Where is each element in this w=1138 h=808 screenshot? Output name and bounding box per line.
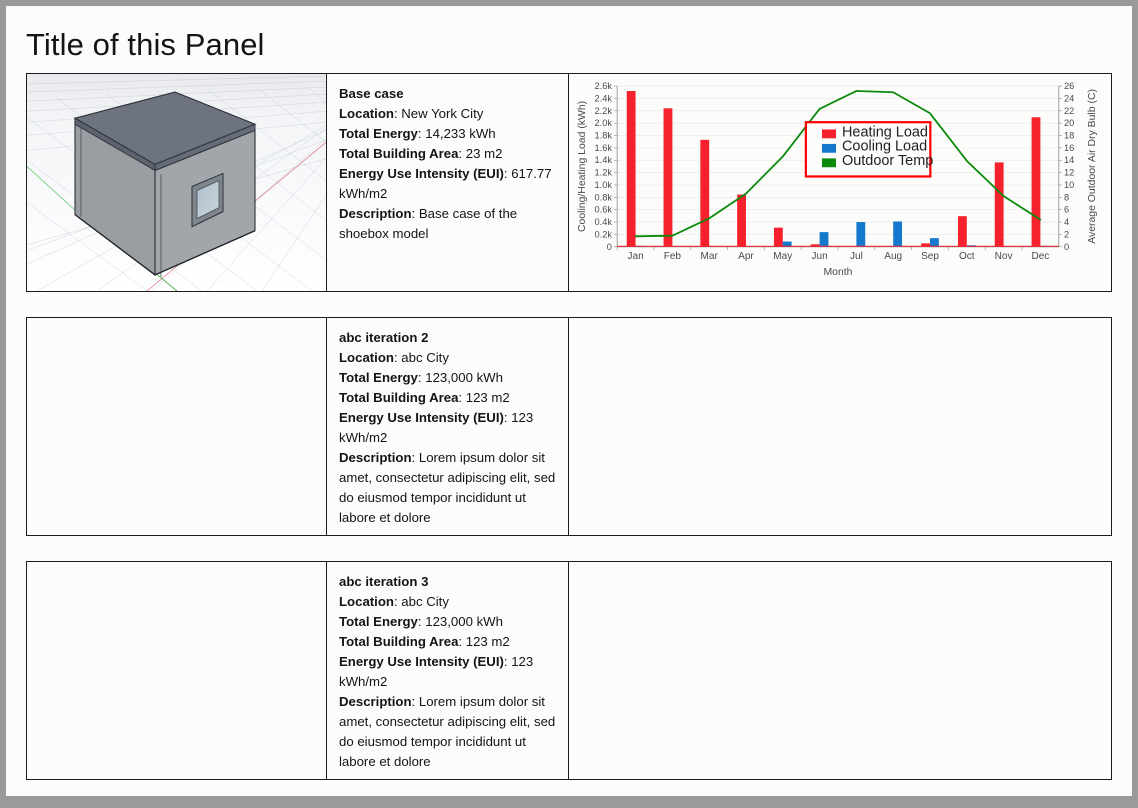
info-label: Location xyxy=(339,106,394,121)
svg-text:Sep: Sep xyxy=(921,251,939,262)
info-field-description: Description: Base case of the shoebox mo… xyxy=(339,204,556,244)
svg-text:8: 8 xyxy=(1064,192,1069,202)
info-field-total-energy: Total Energy: 123,000 kWh xyxy=(339,612,556,632)
svg-text:2.2k: 2.2k xyxy=(595,106,613,116)
svg-text:1.8k: 1.8k xyxy=(595,131,613,141)
svg-text:1.6k: 1.6k xyxy=(595,143,613,153)
info-value: 14,233 kWh xyxy=(425,126,495,141)
info-label: Total Energy xyxy=(339,126,418,141)
info-field-description: Description: Lorem ipsum dolor sit amet,… xyxy=(339,692,556,772)
result-card-iteration-3[interactable]: abc iteration 3 Location: abc City Total… xyxy=(26,561,1112,780)
energy-chart[interactable]: 000.2k20.4k40.6k60.8k81.0k101.2k121.4k14… xyxy=(569,74,1111,291)
svg-text:Month: Month xyxy=(823,267,852,278)
svg-text:4: 4 xyxy=(1064,217,1069,227)
svg-text:Jul: Jul xyxy=(850,251,863,262)
svg-text:2.0k: 2.0k xyxy=(595,118,613,128)
card-title: abc iteration 2 xyxy=(339,328,556,348)
svg-text:1.0k: 1.0k xyxy=(595,180,613,190)
info-value: abc City xyxy=(401,350,449,365)
info-label: Total Building Area xyxy=(339,146,458,161)
panel-page: Title of this Panel xyxy=(6,6,1132,796)
svg-text:1.4k: 1.4k xyxy=(595,155,613,165)
svg-text:22: 22 xyxy=(1064,106,1074,116)
info-field-eui: Energy Use Intensity (EUI): 123 kWh/m2 xyxy=(339,408,556,448)
svg-text:Apr: Apr xyxy=(738,251,754,262)
svg-text:0: 0 xyxy=(607,242,612,252)
result-card-base-case[interactable]: Base case Location: New York City Total … xyxy=(26,73,1112,292)
info-label: Description xyxy=(339,206,412,221)
info-field-eui: Energy Use Intensity (EUI): 123 kWh/m2 xyxy=(339,652,556,692)
model-thumbnail-cell-empty[interactable] xyxy=(27,562,327,779)
svg-text:14: 14 xyxy=(1064,155,1074,165)
info-cell: Base case Location: New York City Total … xyxy=(327,74,569,291)
info-label: Total Building Area xyxy=(339,390,458,405)
info-field-total-building-area: Total Building Area: 23 m2 xyxy=(339,144,556,164)
info-field-eui: Energy Use Intensity (EUI): 617.77 kWh/m… xyxy=(339,164,556,204)
svg-text:May: May xyxy=(773,251,792,262)
info-label: Total Building Area xyxy=(339,634,458,649)
svg-text:18: 18 xyxy=(1064,131,1074,141)
svg-text:2: 2 xyxy=(1064,229,1069,239)
page-title: Title of this Panel xyxy=(26,25,265,65)
svg-text:Oct: Oct xyxy=(959,251,975,262)
info-label: Location xyxy=(339,350,394,365)
shoebox-3d-model-icon xyxy=(27,74,326,291)
info-value: New York City xyxy=(401,106,483,121)
svg-text:Feb: Feb xyxy=(664,251,682,262)
info-field-total-energy: Total Energy: 123,000 kWh xyxy=(339,368,556,388)
result-card-iteration-2[interactable]: abc iteration 2 Location: abc City Total… xyxy=(26,317,1112,536)
info-field-description: Description: Lorem ipsum dolor sit amet,… xyxy=(339,448,556,528)
info-label: Description xyxy=(339,694,412,709)
svg-text:Cooling/Heating Load (kWh): Cooling/Heating Load (kWh) xyxy=(577,101,588,232)
info-label: Total Energy xyxy=(339,370,418,385)
window-frame: Title of this Panel xyxy=(0,0,1138,808)
svg-text:20: 20 xyxy=(1064,118,1074,128)
svg-text:Mar: Mar xyxy=(701,251,719,262)
svg-text:24: 24 xyxy=(1064,93,1074,103)
svg-text:Nov: Nov xyxy=(995,251,1013,262)
svg-text:12: 12 xyxy=(1064,168,1074,178)
info-value: 123,000 kWh xyxy=(425,370,503,385)
svg-text:Dec: Dec xyxy=(1031,251,1049,262)
svg-text:0: 0 xyxy=(1064,242,1069,252)
model-thumbnail-cell[interactable] xyxy=(27,74,327,291)
info-field-location: Location: New York City xyxy=(339,104,556,124)
info-value: 23 m2 xyxy=(466,146,503,161)
info-field-location: Location: abc City xyxy=(339,348,556,368)
info-label: Location xyxy=(339,594,394,609)
chart-cell-empty[interactable] xyxy=(569,318,1111,535)
svg-text:Jan: Jan xyxy=(627,251,643,262)
card-title: Base case xyxy=(339,84,556,104)
info-field-location: Location: abc City xyxy=(339,592,556,612)
svg-text:0.6k: 0.6k xyxy=(595,205,613,215)
info-value: 123,000 kWh xyxy=(425,614,503,629)
svg-text:Jun: Jun xyxy=(812,251,828,262)
svg-text:16: 16 xyxy=(1064,143,1074,153)
svg-text:Average Outdoor Air Dry Bulb (: Average Outdoor Air Dry Bulb (C) xyxy=(1087,89,1098,244)
svg-text:Aug: Aug xyxy=(884,251,902,262)
model-thumbnail-cell-empty[interactable] xyxy=(27,318,327,535)
info-value: 123 m2 xyxy=(466,390,510,405)
model-viewport xyxy=(27,74,326,291)
info-cell: abc iteration 2 Location: abc City Total… xyxy=(327,318,569,535)
svg-text:Outdoor Temp: Outdoor Temp xyxy=(842,153,933,169)
info-cell: abc iteration 3 Location: abc City Total… xyxy=(327,562,569,779)
info-label: Energy Use Intensity (EUI) xyxy=(339,654,504,669)
info-field-total-building-area: Total Building Area: 123 m2 xyxy=(339,632,556,652)
svg-text:10: 10 xyxy=(1064,180,1074,190)
info-value: abc City xyxy=(401,594,449,609)
svg-text:2.6k: 2.6k xyxy=(595,81,613,91)
svg-text:0.4k: 0.4k xyxy=(595,217,613,227)
svg-text:6: 6 xyxy=(1064,205,1069,215)
chart-cell-empty[interactable] xyxy=(569,562,1111,779)
info-field-total-energy: Total Energy: 14,233 kWh xyxy=(339,124,556,144)
info-label: Energy Use Intensity (EUI) xyxy=(339,410,504,425)
chart-cell[interactable]: 000.2k20.4k40.6k60.8k81.0k101.2k121.4k14… xyxy=(569,74,1111,291)
info-label: Energy Use Intensity (EUI) xyxy=(339,166,504,181)
svg-text:26: 26 xyxy=(1064,81,1074,91)
info-label: Total Energy xyxy=(339,614,418,629)
info-value: 123 m2 xyxy=(466,634,510,649)
svg-text:2.4k: 2.4k xyxy=(595,93,613,103)
card-title: abc iteration 3 xyxy=(339,572,556,592)
svg-text:0.2k: 0.2k xyxy=(595,229,613,239)
info-label: Description xyxy=(339,450,412,465)
info-field-total-building-area: Total Building Area: 123 m2 xyxy=(339,388,556,408)
energy-chart-svg[interactable]: 000.2k20.4k40.6k60.8k81.0k101.2k121.4k14… xyxy=(569,74,1111,291)
svg-text:0.8k: 0.8k xyxy=(595,192,613,202)
svg-text:1.2k: 1.2k xyxy=(595,168,613,178)
